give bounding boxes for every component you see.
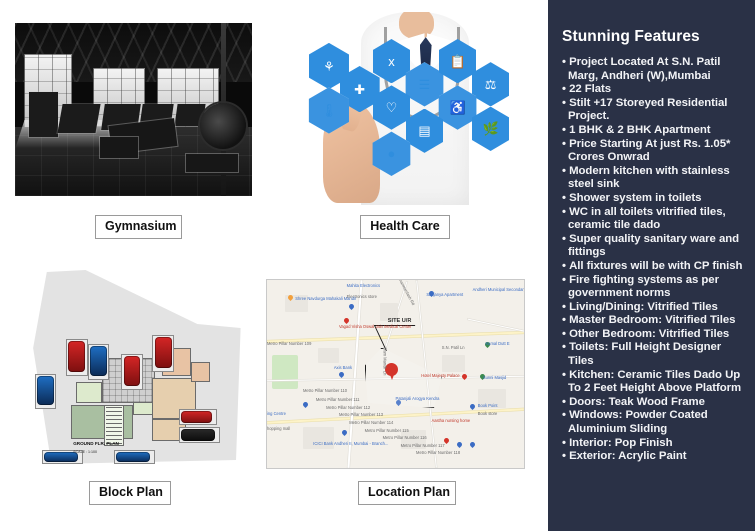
map-label-road: Metro Pillar Number 110 (303, 389, 347, 394)
map-pin-icon (343, 317, 350, 324)
features-title: Stunning Features (562, 28, 748, 46)
feature-item: Super quality sanitary ware and fittings (562, 233, 748, 260)
feature-item: Exterior: Acrylic Paint (562, 450, 748, 464)
feature-item: Shower system in toilets (562, 192, 748, 206)
car-red-2 (124, 356, 141, 387)
flat-bench (186, 154, 238, 171)
plan-drawing-title: GROUND FLR. PLAN (73, 441, 119, 446)
map-pin-icon (461, 373, 468, 380)
feature-item: Fire fighting systems as per government … (562, 274, 748, 301)
map-label-poi: ing Centre (267, 412, 286, 417)
site-marker-tip (389, 372, 395, 380)
staircase (104, 405, 123, 446)
map-label-road: Metro Pillar Number 109 (267, 342, 311, 347)
map-label-road: Metro Pillar Number 117 (401, 444, 445, 449)
map-label-road: Metro Pillar Number 113 (339, 413, 383, 418)
map-pin-icon (469, 441, 476, 448)
meter-room (191, 362, 210, 382)
building-block-green (71, 405, 133, 440)
location-plan-map: SITE U/R Mahita Electronics Electronics … (266, 279, 525, 469)
feature-item: All fixtures will be with CP finish (562, 260, 748, 274)
feature-item: Project Located At S.N. Patil Marg, Andh… (562, 56, 748, 83)
map-label-poi: Sunni Masjid (483, 376, 506, 381)
feature-item: Doors: Teak Wood Frame (562, 396, 748, 410)
feature-item: WC in all toilets vitrified tiles, ceram… (562, 206, 748, 233)
map-pin-icon (456, 441, 463, 448)
feature-item: 22 Flats (562, 83, 748, 97)
map-label-poi: Andheri Municipal Secondary School (473, 288, 525, 293)
map-label-poi: Saujanya Apartment (426, 293, 463, 298)
map-label-sub: Book store (478, 412, 498, 417)
brochure-slide: Gymnasium ⚘ ✚ x ☰ 📋 ⚖ 🌡 ♡ ♿ 🌿 ▤ ● Health… (0, 0, 755, 531)
bench-base (100, 137, 138, 158)
car-blue-1 (90, 346, 107, 377)
flask-icon: ⚖ (472, 62, 510, 106)
feature-item: Stilt +17 Storeyed Residential Project. (562, 97, 748, 124)
map-label-poi: Book Point (478, 404, 498, 409)
map-label-road: Metro Pillar Number 116 (383, 436, 427, 441)
caption-location-plan: Location Plan (358, 481, 456, 505)
map-label-road: Metro Pillar Number 115 (365, 429, 409, 434)
caption-block-plan: Block Plan (89, 481, 171, 505)
map-label-poi: Axis Bank (334, 366, 352, 371)
caption-gymnasium: Gymnasium (95, 215, 182, 239)
feature-item: Living/Dining: Vitrified Tiles (562, 301, 748, 315)
feature-item: Windows: Powder Coated Aluminium Sliding (562, 409, 748, 436)
room-lift (76, 382, 102, 402)
map-pin-icon (340, 429, 347, 436)
map-label-poi: Kamal Dutt E (485, 342, 509, 347)
caption-health-care: Health Care (360, 215, 450, 239)
map-label-poi: Vagad Visha Oswal Jain Medical Center (339, 325, 412, 330)
barbell-plate (200, 103, 246, 149)
car-blue-4 (116, 452, 150, 462)
car-red-1 (68, 341, 85, 372)
feature-item: Modern kitchen with stainless steel sink (562, 165, 748, 192)
car-red-3 (155, 337, 172, 368)
car-black-1 (181, 429, 215, 441)
map-road-h4 (468, 319, 525, 333)
map-park-area (272, 355, 298, 389)
map-label-poi: Mahita Electronics (347, 284, 380, 289)
map-label-poi: ICICI Bank Andheri II, Mumbai - Branch..… (313, 442, 388, 447)
block-plan-drawing: GROUND FLR. PLAN SCALE : 1:100 (18, 266, 258, 470)
map-label-poi: Aastha nursing home (431, 419, 470, 424)
car-blue-2 (37, 376, 54, 405)
health-care-photo: ⚘ ✚ x ☰ 📋 ⚖ 🌡 ♡ ♿ 🌿 ▤ ● (290, 12, 526, 205)
features-list: Project Located At S.N. Patil Marg, Andh… (562, 56, 748, 464)
map-label-sub: hopping mall (267, 427, 290, 432)
map-label-road: Ram Mandir Ln (381, 347, 386, 375)
map-label-road: Metro Pillar Number 112 (326, 406, 370, 411)
feature-item: Price Starting At just Rs. 1.05* Crores … (562, 138, 748, 165)
map-pin-icon (338, 371, 345, 378)
map-label-road: Metro Pillar Number 118 (416, 451, 460, 456)
elliptical-machine (29, 92, 57, 137)
stunning-features-panel: Stunning Features Project Located At S.N… (548, 0, 755, 531)
feature-item: Master Bedroom: Vitrified Tiles (562, 314, 748, 328)
feature-item: Toilets: Full Height Designer Tiles (562, 341, 748, 368)
map-building (318, 348, 339, 363)
car-red-4 (181, 411, 212, 423)
leaf-icon: 🌿 (472, 107, 510, 151)
treadmill-1 (57, 104, 100, 133)
map-pin-icon (348, 303, 355, 310)
feature-item: Other Bedroom: Vitrified Tiles (562, 328, 748, 342)
map-label-road: Metro Pillar Number 111 (316, 398, 360, 403)
map-label-poi: Shree Navdurga Mahakali Mandir (295, 297, 356, 302)
map-label-road: S.N. Patil Ln (442, 346, 465, 351)
map-label-road: Metro Pillar Number 114 (349, 421, 393, 426)
feature-item: Interior: Pop Finish (562, 437, 748, 451)
map-pin-icon (469, 403, 476, 410)
feature-item: Kitchen: Ceramic Tiles Dado Up To 2 Feet… (562, 369, 748, 396)
map-label-poi: Hotel Majesty Palace (421, 374, 459, 379)
plan-drawing-scale: SCALE : 1:100 (73, 450, 97, 454)
map-building (442, 355, 465, 372)
gymnasium-photo (15, 23, 252, 196)
feature-item: 1 BHK & 2 BHK Apartment (562, 124, 748, 138)
map-label-poi: Patanjali Arogya Kendra (396, 397, 440, 402)
map-pin-icon (302, 401, 309, 408)
